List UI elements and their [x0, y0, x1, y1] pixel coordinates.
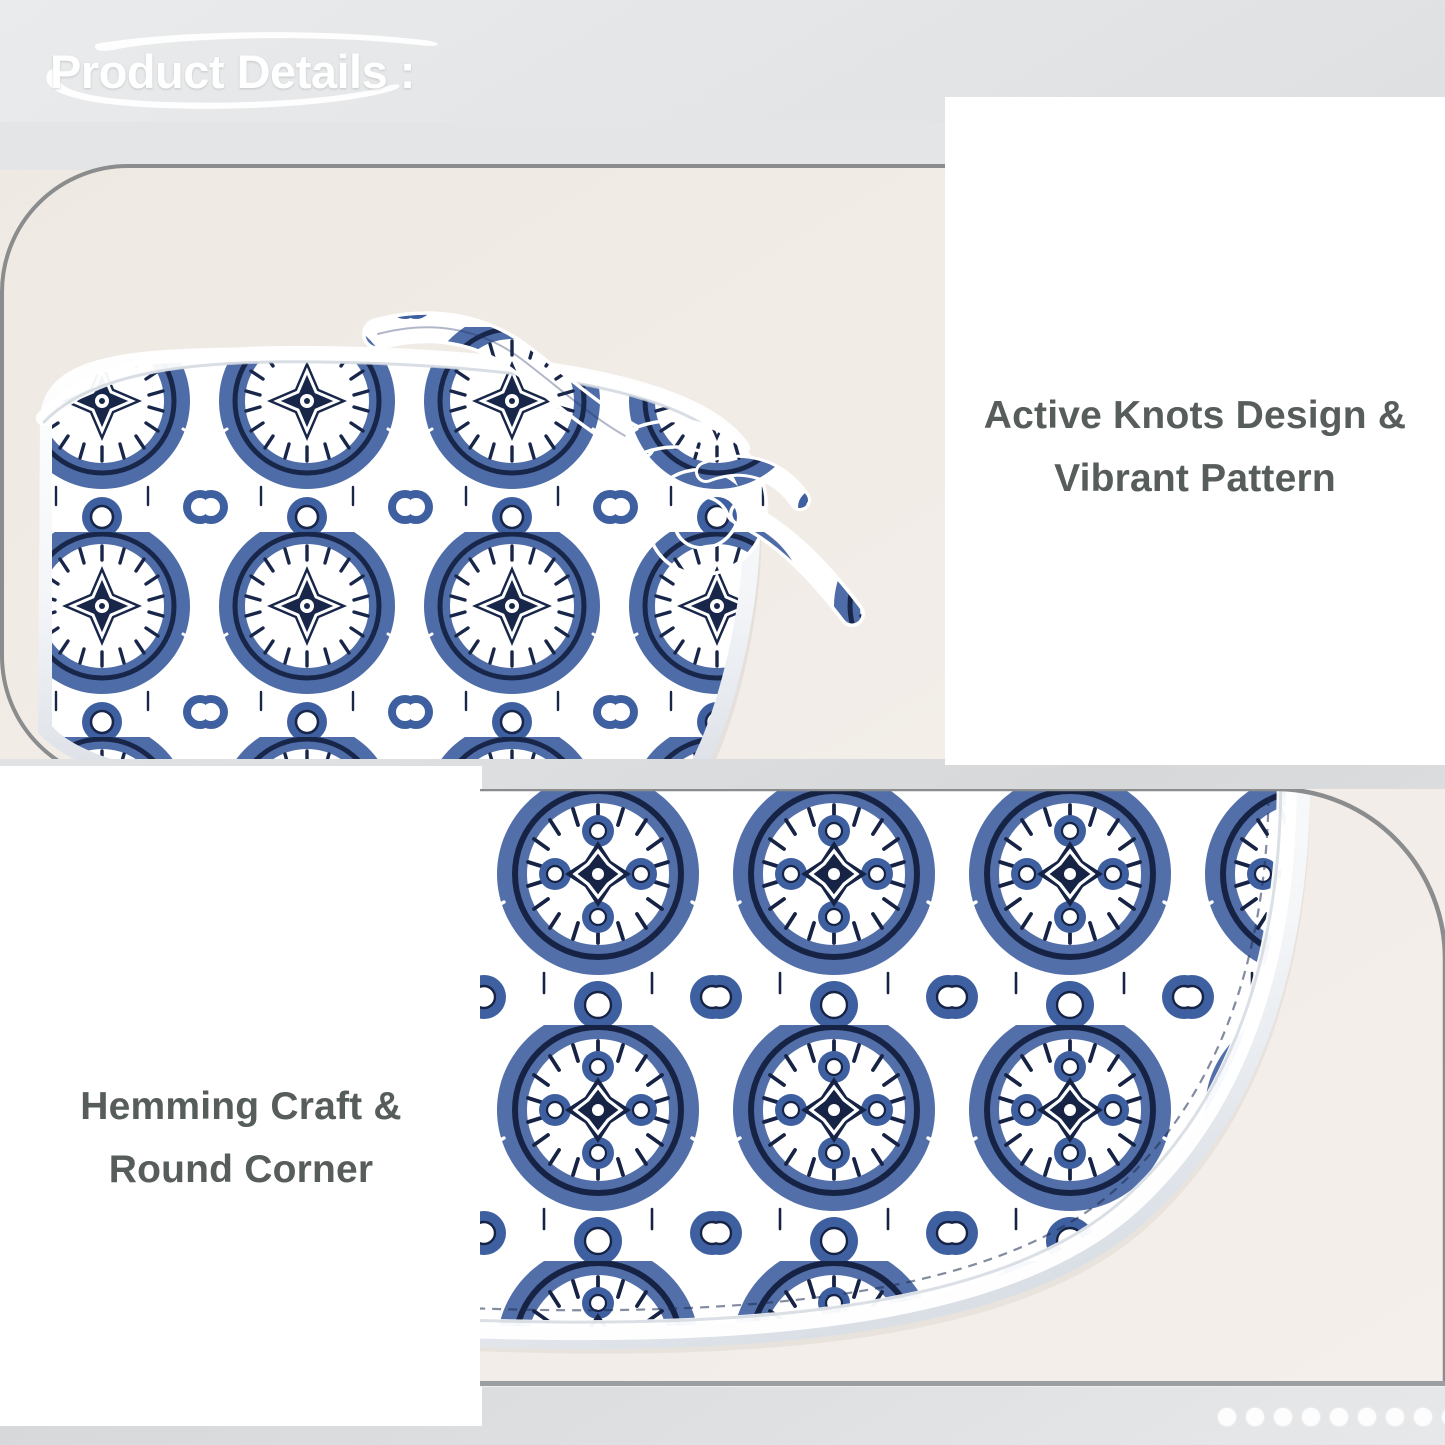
page-title: Product Details :: [50, 44, 415, 99]
page-title-block: Product Details :: [22, 26, 452, 112]
product-photo-knots-panel: [0, 122, 946, 759]
caption-knots-text: Active Knots Design & Vibrant Pattern: [962, 384, 1428, 510]
product-photo-corner-panel: [480, 789, 1445, 1387]
cushion-rounded-corner-photo-icon: [480, 789, 1445, 1387]
cushion-with-ties-photo-icon: [0, 122, 946, 759]
carousel-dot[interactable]: [1358, 1408, 1376, 1426]
caption-hemming-panel: Hemming Craft & Round Corner: [0, 766, 482, 1426]
carousel-dots[interactable]: [1218, 1408, 1445, 1426]
caption-hemming-text: Hemming Craft & Round Corner: [58, 1075, 424, 1201]
carousel-dot[interactable]: [1414, 1408, 1432, 1426]
caption-knots-line-1: Active Knots Design &: [984, 384, 1406, 447]
carousel-dot[interactable]: [1218, 1408, 1236, 1426]
carousel-dot[interactable]: [1302, 1408, 1320, 1426]
caption-hemming-line-1: Hemming Craft &: [80, 1075, 402, 1138]
carousel-dot[interactable]: [1274, 1408, 1292, 1426]
caption-knots-panel: Active Knots Design & Vibrant Pattern: [945, 97, 1445, 765]
carousel-dot[interactable]: [1386, 1408, 1404, 1426]
carousel-dot[interactable]: [1330, 1408, 1348, 1426]
carousel-dot[interactable]: [1246, 1408, 1264, 1426]
caption-knots-line-2: Vibrant Pattern: [984, 447, 1406, 510]
caption-hemming-line-2: Round Corner: [80, 1138, 402, 1201]
